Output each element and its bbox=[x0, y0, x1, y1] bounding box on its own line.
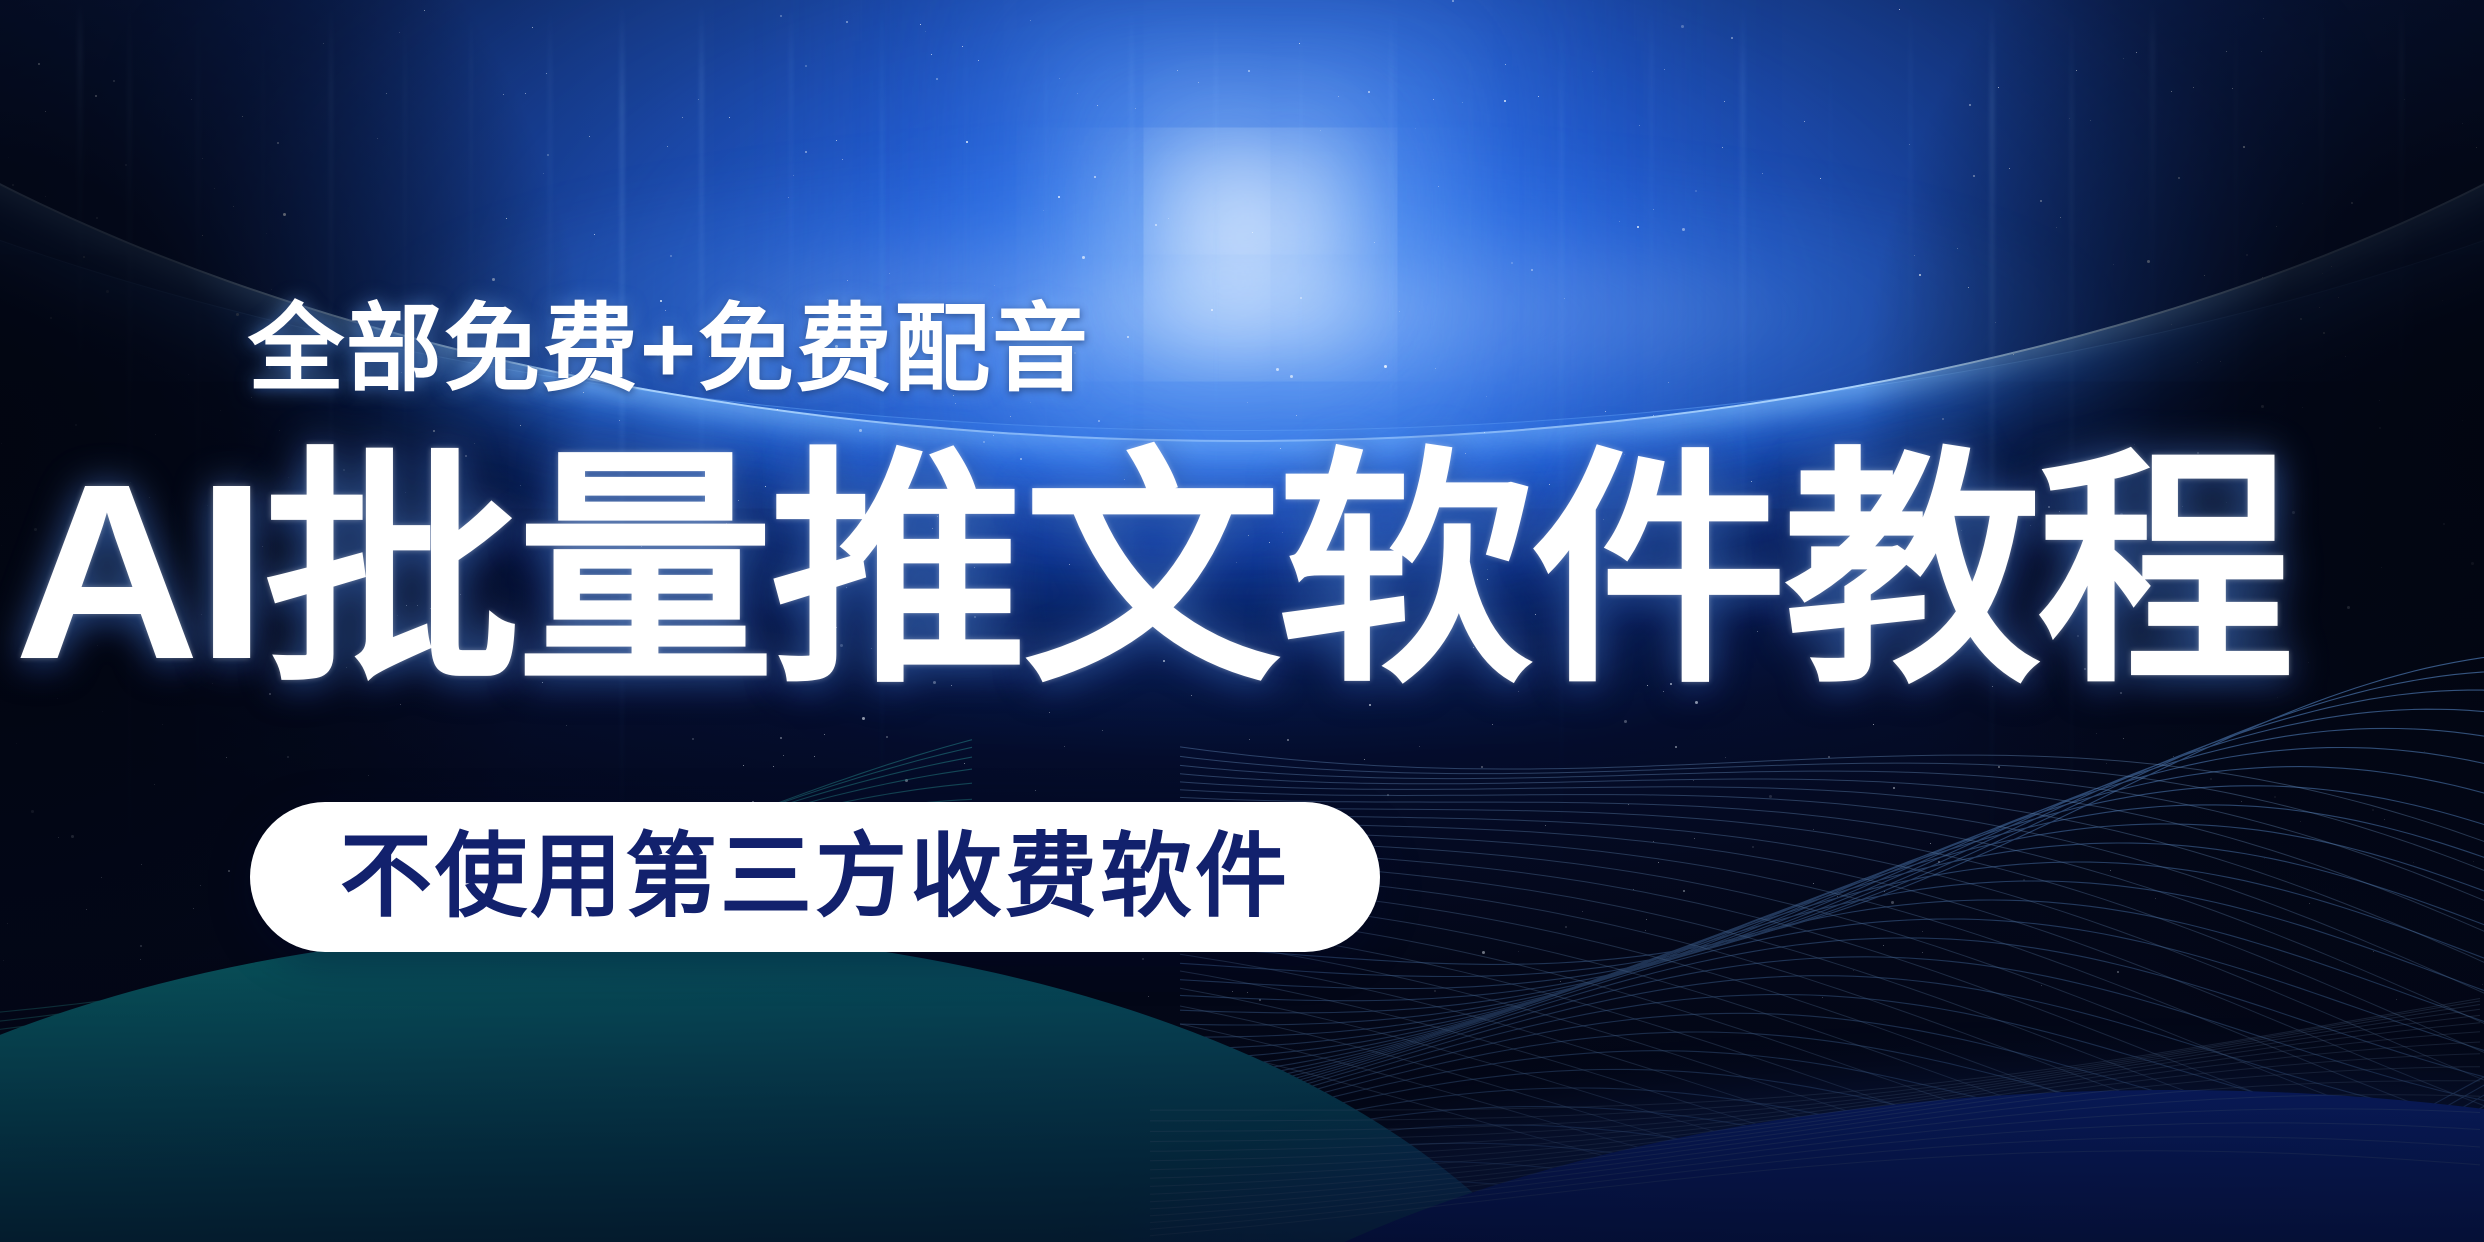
poster-title: AI批量推文软件教程 bbox=[14, 432, 2484, 712]
poster-content: 全部免费+免费配音 AI批量推文软件教程 不使用第三方收费软件 bbox=[0, 0, 2484, 1242]
poster-badge: 不使用第三方收费软件 bbox=[250, 802, 1380, 952]
poster-subtitle: 全部免费+免费配音 bbox=[248, 300, 1090, 401]
promo-poster: 全部免费+免费配音 AI批量推文软件教程 不使用第三方收费软件 bbox=[0, 0, 2484, 1242]
poster-badge-label: 不使用第三方收费软件 bbox=[340, 831, 1290, 923]
